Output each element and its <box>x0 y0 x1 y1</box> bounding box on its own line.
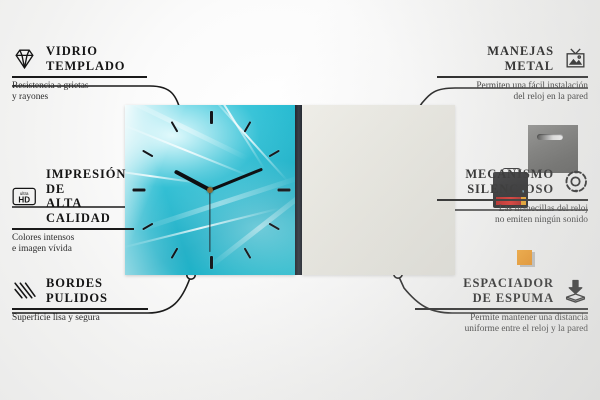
picture-frame-icon <box>563 46 588 71</box>
callout-rule <box>12 76 147 78</box>
callout-impresion-alta-calidad: ultra HD IMPRESIÓN DE ALTA CALIDAD Color… <box>12 167 134 256</box>
callout-title: IMPRESIÓN DE ALTA CALIDAD <box>46 167 134 225</box>
tick-1 <box>244 121 252 132</box>
callout-desc: Las manecillas del reloj no emiten ningú… <box>437 204 588 227</box>
hand-center-cap <box>207 187 213 193</box>
diamond-icon <box>12 46 37 71</box>
hanger-keyhole-slot <box>537 134 563 140</box>
clock-glass-edge <box>295 105 302 275</box>
callout-desc: Permiten una fácil instalación del reloj… <box>437 81 588 104</box>
minute-hand <box>209 168 262 192</box>
tick-2 <box>269 150 280 158</box>
callout-title: MANEJAS METAL <box>487 44 554 73</box>
tick-6 <box>210 256 213 269</box>
foam-spacer-icon <box>563 278 588 303</box>
callout-desc: Permite mantener una distancia uniforme … <box>415 313 588 336</box>
callout-desc: Colores intensos e imagen vívida <box>12 233 134 256</box>
metal-hanger-plate <box>528 125 578 173</box>
callout-espaciador-de-espuma: ESPACIADOR DE ESPUMA Permite mantener un… <box>415 276 588 336</box>
callout-desc: Resistencia a grietas y rayones <box>12 81 147 104</box>
tick-12 <box>210 111 213 124</box>
callout-bordes-pulidos: BORDES PULIDOS Superficie lisa y segura <box>12 276 148 324</box>
tick-3 <box>278 189 291 192</box>
second-hand <box>209 190 210 252</box>
callout-title: MECANISMO SILENCIOSO <box>465 167 554 196</box>
tick-8 <box>142 223 153 231</box>
hour-hand <box>174 169 211 191</box>
callout-rule <box>437 199 588 201</box>
tick-4 <box>269 223 280 231</box>
callout-vidrio-templado: VIDRIO TEMPLADO Resistencia a grietas y … <box>12 44 147 104</box>
product-image <box>125 105 455 275</box>
callout-rule <box>12 228 134 230</box>
callout-title: BORDES PULIDOS <box>46 276 108 305</box>
callout-desc: Superficie lisa y segura <box>12 313 148 325</box>
callout-rule <box>415 308 588 310</box>
callout-title: ESPACIADOR DE ESPUMA <box>463 276 554 305</box>
tick-10 <box>142 150 153 158</box>
callout-manejas-metal: MANEJAS METAL Permiten una fácil instala… <box>437 44 588 104</box>
clock-back-panel <box>302 105 455 275</box>
polished-edges-icon <box>12 278 37 303</box>
callout-title: VIDRIO TEMPLADO <box>46 44 125 73</box>
callout-mecanismo-silencioso: MECANISMO SILENCIOSO Las manecillas del … <box>437 167 588 227</box>
ultra-hd-icon: ultra HD <box>12 184 37 209</box>
infographic-canvas: VIDRIO TEMPLADO Resistencia a grietas y … <box>0 0 600 400</box>
tick-7 <box>171 248 179 259</box>
clock-dial <box>125 105 295 275</box>
tick-11 <box>171 121 179 132</box>
gear-icon <box>563 169 588 194</box>
clock-front-panel <box>125 105 295 275</box>
callout-rule <box>12 308 148 310</box>
tick-9 <box>133 189 146 192</box>
callout-rule <box>437 76 588 78</box>
tick-5 <box>244 248 252 259</box>
foam-spacer-pad <box>517 250 532 265</box>
ultra-hd-icon-hd-text: HD <box>18 195 30 204</box>
